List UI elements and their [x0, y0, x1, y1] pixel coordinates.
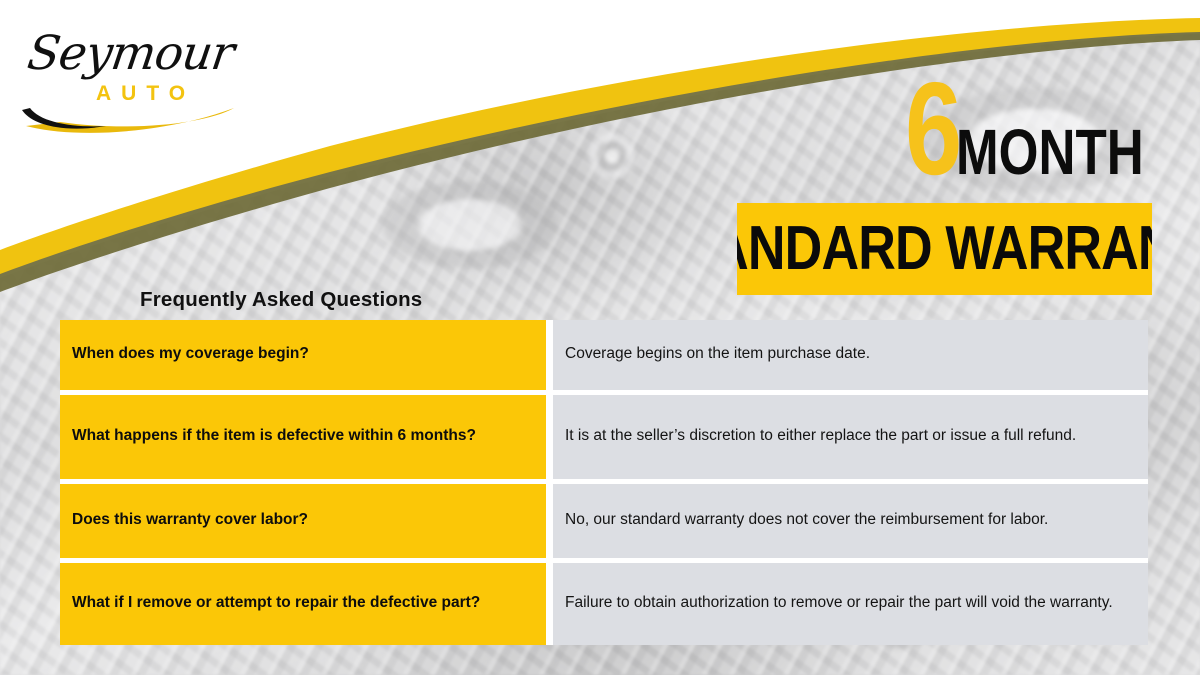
faq-question: What happens if the item is defective wi… — [60, 395, 553, 484]
table-row: What if I remove or attempt to repair th… — [60, 563, 1148, 645]
faq-answer: Coverage begins on the item purchase dat… — [553, 320, 1148, 395]
faq-table: When does my coverage begin? Coverage be… — [60, 320, 1148, 645]
warranty-months-unit: MONTH — [956, 128, 1144, 178]
table-row: Does this warranty cover labor? No, our … — [60, 484, 1148, 563]
standard-warranty-label: STANDARD WARRANTY — [737, 218, 1152, 280]
warranty-slide: Seymour AUTO 6 MONTH STANDARD WARRANTY F… — [0, 0, 1200, 675]
faq-question: Does this warranty cover labor? — [60, 484, 553, 563]
table-row: What happens if the item is defective wi… — [60, 395, 1148, 484]
faq-answer: Failure to obtain authorization to remov… — [553, 563, 1148, 645]
standard-warranty-banner: STANDARD WARRANTY — [737, 203, 1152, 295]
faq-question: What if I remove or attempt to repair th… — [60, 563, 553, 645]
seymour-auto-logo: Seymour AUTO — [20, 22, 270, 132]
faq-heading: Frequently Asked Questions — [140, 288, 422, 312]
table-row: When does my coverage begin? Coverage be… — [60, 320, 1148, 395]
warranty-months-number: 6 — [905, 78, 961, 181]
logo-subtext: AUTO — [96, 82, 195, 106]
warranty-duration-headline: 6 MONTH — [905, 78, 1191, 181]
faq-answer: No, our standard warranty does not cover… — [553, 484, 1148, 563]
faq-answer: It is at the seller’s discretion to eith… — [553, 395, 1148, 484]
faq-question: When does my coverage begin? — [60, 320, 553, 395]
logo-wordmark: Seymour — [24, 26, 237, 81]
